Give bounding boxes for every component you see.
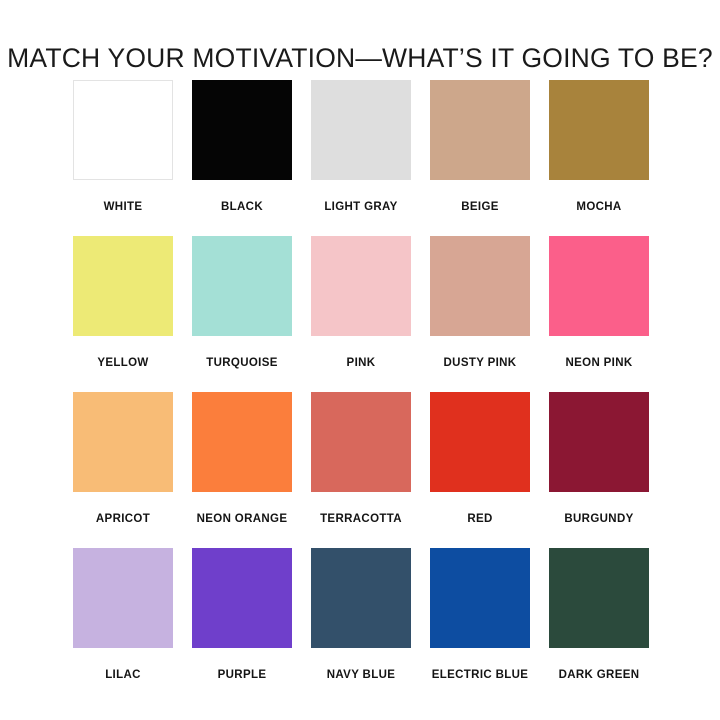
color-swatch-label: APRICOT bbox=[96, 512, 150, 528]
color-swatch-cell[interactable]: TERRACOTTA bbox=[311, 392, 411, 548]
color-swatch-cell[interactable]: DUSTY PINK bbox=[430, 236, 530, 392]
color-swatch[interactable] bbox=[73, 80, 173, 180]
color-swatch-label: NEON ORANGE bbox=[197, 512, 288, 528]
color-label-band: NEON ORANGE bbox=[186, 492, 298, 548]
color-label-band: NEON PINK bbox=[543, 336, 655, 392]
color-swatch-cell[interactable]: APRICOT bbox=[73, 392, 173, 548]
color-swatch-label: DARK GREEN bbox=[559, 668, 640, 684]
color-swatch[interactable] bbox=[549, 392, 649, 492]
color-swatch-label: TURQUOISE bbox=[206, 356, 278, 372]
color-label-band: BLACK bbox=[186, 180, 298, 236]
color-label-band: APRICOT bbox=[67, 492, 179, 548]
color-swatch[interactable] bbox=[192, 80, 292, 180]
color-label-band: YELLOW bbox=[67, 336, 179, 392]
color-swatch-label: PURPLE bbox=[218, 668, 267, 684]
color-swatch-label: RED bbox=[467, 512, 492, 528]
color-swatch-label: BLACK bbox=[221, 200, 263, 216]
color-swatch-cell[interactable]: NEON ORANGE bbox=[192, 392, 292, 548]
color-swatch-label: BEIGE bbox=[461, 200, 499, 216]
color-swatch-label: WHITE bbox=[104, 200, 143, 216]
color-swatch-cell[interactable]: ELECTRIC BLUE bbox=[430, 548, 530, 704]
color-swatch[interactable] bbox=[311, 80, 411, 180]
color-swatch[interactable] bbox=[73, 548, 173, 648]
color-swatch[interactable] bbox=[549, 80, 649, 180]
color-swatch-cell[interactable]: BURGUNDY bbox=[549, 392, 649, 548]
color-label-band: LIGHT GRAY bbox=[305, 180, 417, 236]
color-swatch[interactable] bbox=[192, 548, 292, 648]
color-swatch[interactable] bbox=[192, 392, 292, 492]
color-label-band: TURQUOISE bbox=[186, 336, 298, 392]
color-swatch[interactable] bbox=[311, 548, 411, 648]
color-swatch[interactable] bbox=[73, 392, 173, 492]
color-label-band: NAVY BLUE bbox=[305, 648, 417, 704]
color-swatch-cell[interactable]: NAVY BLUE bbox=[311, 548, 411, 704]
color-label-band: WHITE bbox=[67, 180, 179, 236]
color-swatch[interactable] bbox=[311, 392, 411, 492]
color-swatch-label: YELLOW bbox=[97, 356, 148, 372]
color-swatch-cell[interactable]: TURQUOISE bbox=[192, 236, 292, 392]
color-label-band: DARK GREEN bbox=[543, 648, 655, 704]
color-label-band: TERRACOTTA bbox=[305, 492, 417, 548]
color-label-band: BURGUNDY bbox=[543, 492, 655, 548]
color-label-band: RED bbox=[424, 492, 536, 548]
color-swatch-cell[interactable]: RED bbox=[430, 392, 530, 548]
color-label-band: LILAC bbox=[67, 648, 179, 704]
color-swatch-label: MOCHA bbox=[576, 200, 621, 216]
color-swatch-cell[interactable]: YELLOW bbox=[73, 236, 173, 392]
color-swatch-label: PINK bbox=[347, 356, 376, 372]
color-swatch[interactable] bbox=[549, 236, 649, 336]
page-title: MATCH YOUR MOTIVATION—WHAT’S IT GOING TO… bbox=[0, 44, 720, 73]
color-swatch-cell[interactable]: BEIGE bbox=[430, 80, 530, 236]
color-swatch-label: TERRACOTTA bbox=[320, 512, 402, 528]
color-swatch-label: NAVY BLUE bbox=[327, 668, 396, 684]
color-swatch-label: BURGUNDY bbox=[564, 512, 633, 528]
color-label-band: PINK bbox=[305, 336, 417, 392]
color-swatch-label: ELECTRIC BLUE bbox=[432, 668, 529, 684]
color-swatch-cell[interactable]: PURPLE bbox=[192, 548, 292, 704]
color-swatch[interactable] bbox=[73, 236, 173, 336]
color-swatch-cell[interactable]: NEON PINK bbox=[549, 236, 649, 392]
color-label-band: ELECTRIC BLUE bbox=[424, 648, 536, 704]
color-swatch[interactable] bbox=[549, 548, 649, 648]
color-swatch-label: LILAC bbox=[105, 668, 141, 684]
color-swatch-cell[interactable]: WHITE bbox=[73, 80, 173, 236]
color-label-band: PURPLE bbox=[186, 648, 298, 704]
color-swatch-cell[interactable]: BLACK bbox=[192, 80, 292, 236]
color-palette-page: MATCH YOUR MOTIVATION—WHAT’S IT GOING TO… bbox=[0, 0, 720, 720]
color-swatch-label: DUSTY PINK bbox=[444, 356, 517, 372]
color-swatch-label: LIGHT GRAY bbox=[324, 200, 397, 216]
color-swatch-cell[interactable]: LILAC bbox=[73, 548, 173, 704]
color-swatch-cell[interactable]: MOCHA bbox=[549, 80, 649, 236]
color-swatch[interactable] bbox=[311, 236, 411, 336]
color-label-band: DUSTY PINK bbox=[424, 336, 536, 392]
color-label-band: MOCHA bbox=[543, 180, 655, 236]
color-swatch-cell[interactable]: PINK bbox=[311, 236, 411, 392]
color-swatch[interactable] bbox=[430, 392, 530, 492]
color-swatch[interactable] bbox=[192, 236, 292, 336]
color-swatch-cell[interactable]: LIGHT GRAY bbox=[311, 80, 411, 236]
color-swatch-grid: WHITEBLACKLIGHT GRAYBEIGEMOCHAYELLOWTURQ… bbox=[73, 80, 647, 704]
color-swatch-label: NEON PINK bbox=[565, 356, 632, 372]
color-swatch[interactable] bbox=[430, 548, 530, 648]
color-swatch-cell[interactable]: DARK GREEN bbox=[549, 548, 649, 704]
color-swatch[interactable] bbox=[430, 236, 530, 336]
color-label-band: BEIGE bbox=[424, 180, 536, 236]
color-swatch[interactable] bbox=[430, 80, 530, 180]
